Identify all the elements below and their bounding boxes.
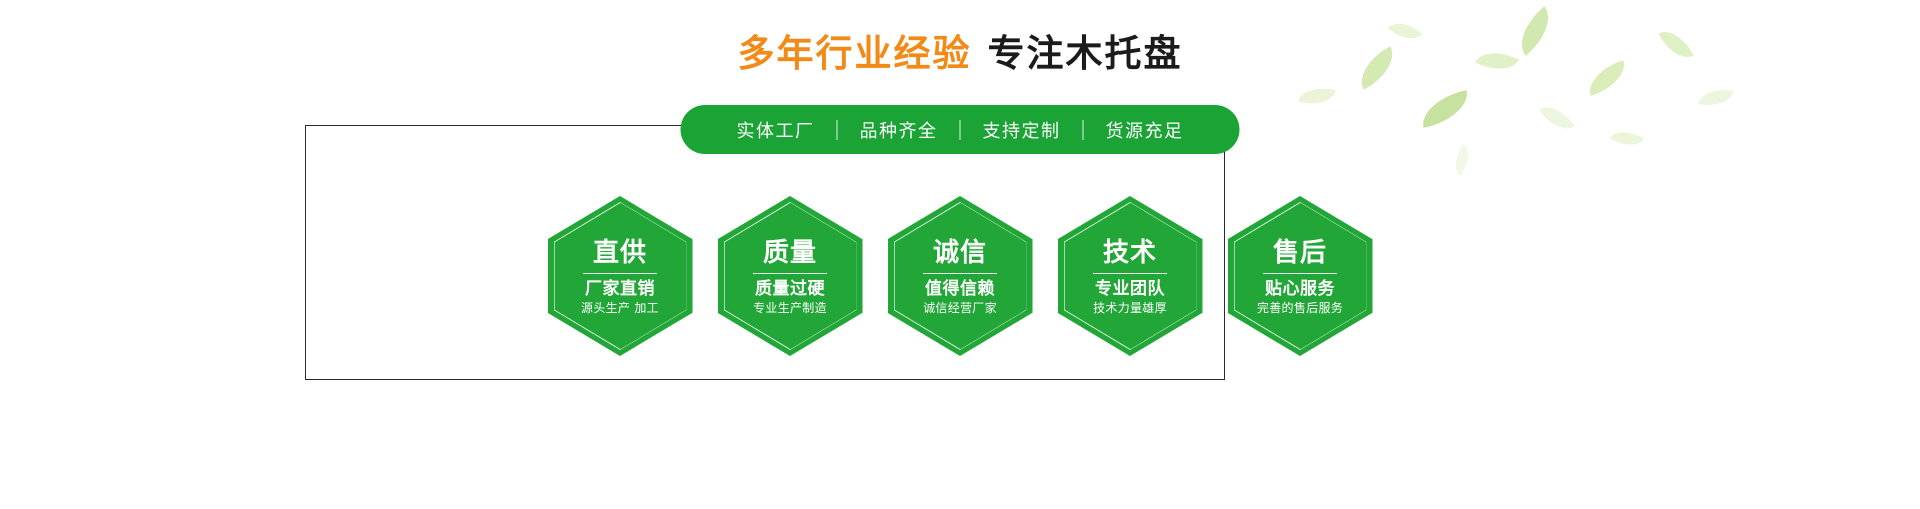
hexagon-card-1: 直供厂家直销源头生产 加工 [548,196,693,356]
pill-item-4: 货源充足 [1084,117,1206,143]
hexagon-content: 技术专业团队技术力量雄厚 [1058,236,1203,315]
hexagon-divider [1093,273,1167,274]
hexagon-title: 直供 [548,240,693,267]
hexagon-subtitle: 贴心服务 [1228,280,1373,299]
leaf-7-icon [1539,98,1575,137]
hexagon-subtitle: 专业团队 [1058,280,1203,299]
pill-item-2: 品种齐全 [838,117,960,143]
hexagon-content: 直供厂家直销源头生产 加工 [548,236,693,315]
hexagon-caption: 完善的售后服务 [1228,302,1373,315]
hexagon-content: 质量质量过硬专业生产制造 [718,236,863,315]
hexagon-title: 诚信 [888,240,1033,267]
hexagon-divider [753,273,827,274]
hexagon-caption: 专业生产制造 [718,302,863,315]
hexagon-feature-row: 直供厂家直销源头生产 加工质量质量过硬专业生产制造诚信值得信赖诚信经营厂家技术专… [0,196,1920,356]
pill-item-1: 实体工厂 [715,117,837,143]
hexagon-title: 技术 [1058,240,1203,267]
hexagon-divider [1263,273,1337,274]
leaf-4-icon [1418,90,1473,128]
hexagon-subtitle: 质量过硬 [718,280,863,299]
hexagon-card-5: 售后贴心服务完善的售后服务 [1228,196,1373,356]
hexagon-subtitle: 厂家直销 [548,280,693,299]
page-title: 多年行业经验专注木托盘 [0,32,1920,76]
page-title-rest: 专注木托盘 [988,32,1183,75]
hexagon-caption: 技术力量雄厚 [1058,302,1203,315]
hexagon-card-4: 技术专业团队技术力量雄厚 [1058,196,1203,356]
hexagon-content: 售后贴心服务完善的售后服务 [1228,236,1373,315]
hexagon-title: 售后 [1228,240,1373,267]
hexagon-subtitle: 值得信赖 [888,280,1033,299]
page-title-highlight: 多年行业经验 [738,32,972,75]
hexagon-divider [923,273,997,274]
hexagon-card-2: 质量质量过硬专业生产制造 [718,196,863,356]
hexagon-divider [583,273,657,274]
hexagon-title: 质量 [718,240,863,267]
leaf-12-icon [1699,85,1734,109]
promo-banner: 多年行业经验专注木托盘 实体工厂品种齐全支持定制货源充足 直供厂家直销源头生产 … [0,0,1920,509]
hexagon-content: 诚信值得信赖诚信经营厂家 [888,236,1033,315]
leaf-2-icon [1298,82,1336,110]
hexagon-caption: 源头生产 加工 [548,302,693,315]
hexagon-caption: 诚信经营厂家 [888,302,1033,315]
pill-item-3: 支持定制 [961,117,1083,143]
leaf-9-icon [1610,124,1644,154]
hexagon-card-3: 诚信值得信赖诚信经营厂家 [888,196,1033,356]
leaf-11-icon [1447,144,1476,176]
feature-pill: 实体工厂品种齐全支持定制货源充足 [681,105,1240,154]
